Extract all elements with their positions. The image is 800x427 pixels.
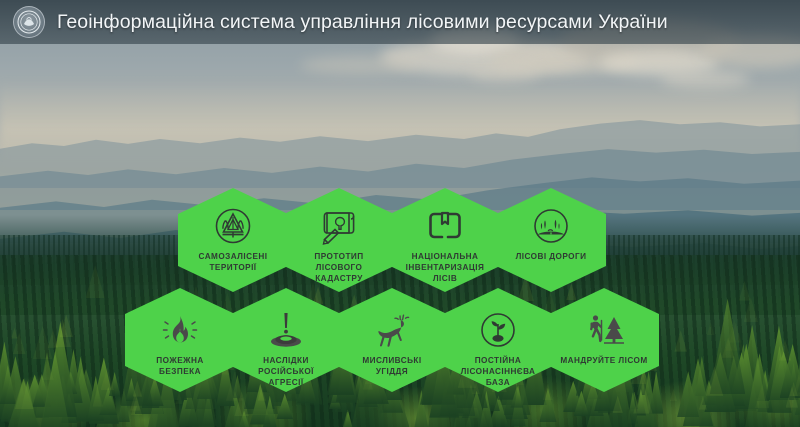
hex-tile-samozalisen[interactable]: САМОЗАЛІСЕНІ ТЕРИТОРІЇ [178,188,288,292]
hex-tile-travel[interactable]: МАНДРУЙТЕ ЛІСОМ [549,288,659,392]
hex-nav-grid: САМОЗАЛІСЕНІ ТЕРИТОРІЇ ПРОТОТИП ЛІСОВОГО… [0,0,800,427]
hex-tile-label: ПОЖЕЖНА БЕЗПЕКА [128,356,232,378]
flame-icon [157,310,203,352]
map-blueprint-pencil-icon [316,206,362,248]
hex-tile-label: ПОСТІЙНА ЛІСОНАСІННЄВА БАЗА [446,356,550,388]
hex-tile-label: САМОЗАЛІСЕНІ ТЕРИТОРІЇ [181,252,285,274]
hiker-tree-icon [581,310,627,352]
hex-tile-label: НАСЛІДКИ РОСІЙСЬКОЇ АГРЕСІЇ [234,356,338,388]
hex-tile-cadastre[interactable]: ПРОТОТИП ЛІСОВОГО КАДАСТРУ [284,188,394,292]
hex-tile-label: ЛІСОВІ ДОРОГИ [499,252,603,263]
app-viewport: Геоінформаційна система управління лісов… [0,0,800,427]
hex-tile-seedbase[interactable]: ПОСТІЙНА ЛІСОНАСІННЄВА БАЗА [443,288,553,392]
hex-tile-aggression[interactable]: НАСЛІДКИ РОСІЙСЬКОЇ АГРЕСІЇ [231,288,341,392]
forest-triangle-icon [210,206,256,248]
hex-tile-roads[interactable]: ЛІСОВІ ДОРОГИ [496,188,606,292]
landmine-warning-icon [263,310,309,352]
hex-tile-hunting[interactable]: МИСЛИВСЬКІ УГІДДЯ [337,288,447,392]
open-book-icon [422,206,468,248]
hex-tile-inventory[interactable]: НАЦІОНАЛЬНА ІНВЕНТАРИЗАЦІЯ ЛІСІВ [390,188,500,292]
seedling-circle-icon [475,310,521,352]
deer-icon [369,310,415,352]
hex-tile-fire[interactable]: ПОЖЕЖНА БЕЗПЕКА [125,288,235,392]
hex-tile-label: МИСЛИВСЬКІ УГІДДЯ [340,356,444,378]
forest-road-circle-icon [528,206,574,248]
hex-tile-label: МАНДРУЙТЕ ЛІСОМ [552,356,656,367]
hex-tile-label: НАЦІОНАЛЬНА ІНВЕНТАРИЗАЦІЯ ЛІСІВ [393,252,497,284]
hex-tile-label: ПРОТОТИП ЛІСОВОГО КАДАСТРУ [287,252,391,284]
